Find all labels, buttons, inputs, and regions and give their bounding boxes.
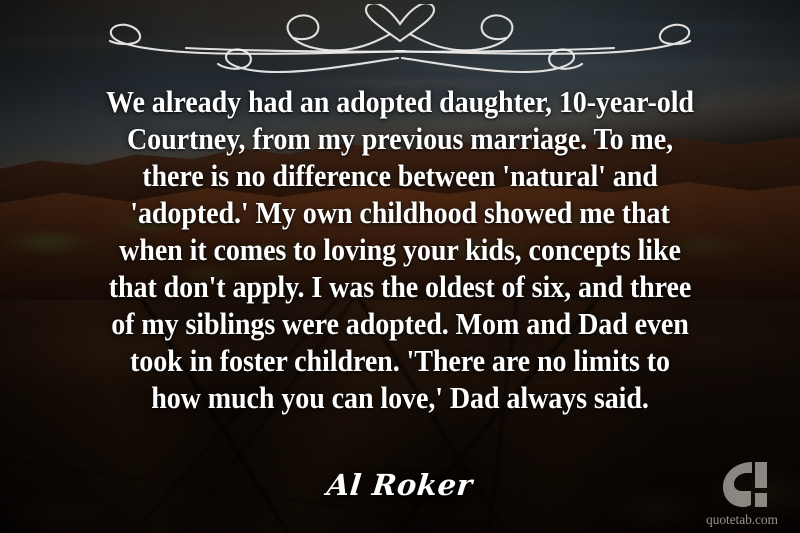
author-attribution: Al Roker — [0, 468, 800, 502]
author-name: Al Roker — [325, 468, 474, 502]
quote-line: there is no difference between 'natural'… — [56, 158, 744, 195]
heart-flourish-divider-icon — [90, 4, 710, 82]
watermark[interactable]: quotetab.com — [694, 458, 790, 527]
quotetab-q-logo-icon — [715, 458, 769, 512]
quote-line: Courtney, from my previous marriage. To … — [56, 121, 744, 158]
quote-line: that don't apply. I was the oldest of si… — [56, 269, 744, 306]
quote-line: of my siblings were adopted. Mom and Dad… — [56, 306, 744, 343]
quote-text: We already had an adopted daughter, 10-y… — [0, 84, 800, 417]
quote-line: how much you can love,' Dad always said. — [56, 380, 744, 417]
quote-line: when it comes to loving your kids, conce… — [56, 232, 744, 269]
quote-line: 'adopted.' My own childhood showed me th… — [56, 195, 744, 232]
watermark-site-text: quotetab.com — [694, 513, 790, 527]
quote-line: took in foster children. 'There are no l… — [56, 343, 744, 380]
quote-line: We already had an adopted daughter, 10-y… — [56, 84, 744, 121]
quote-image-card: We already had an adopted daughter, 10-y… — [0, 0, 800, 533]
